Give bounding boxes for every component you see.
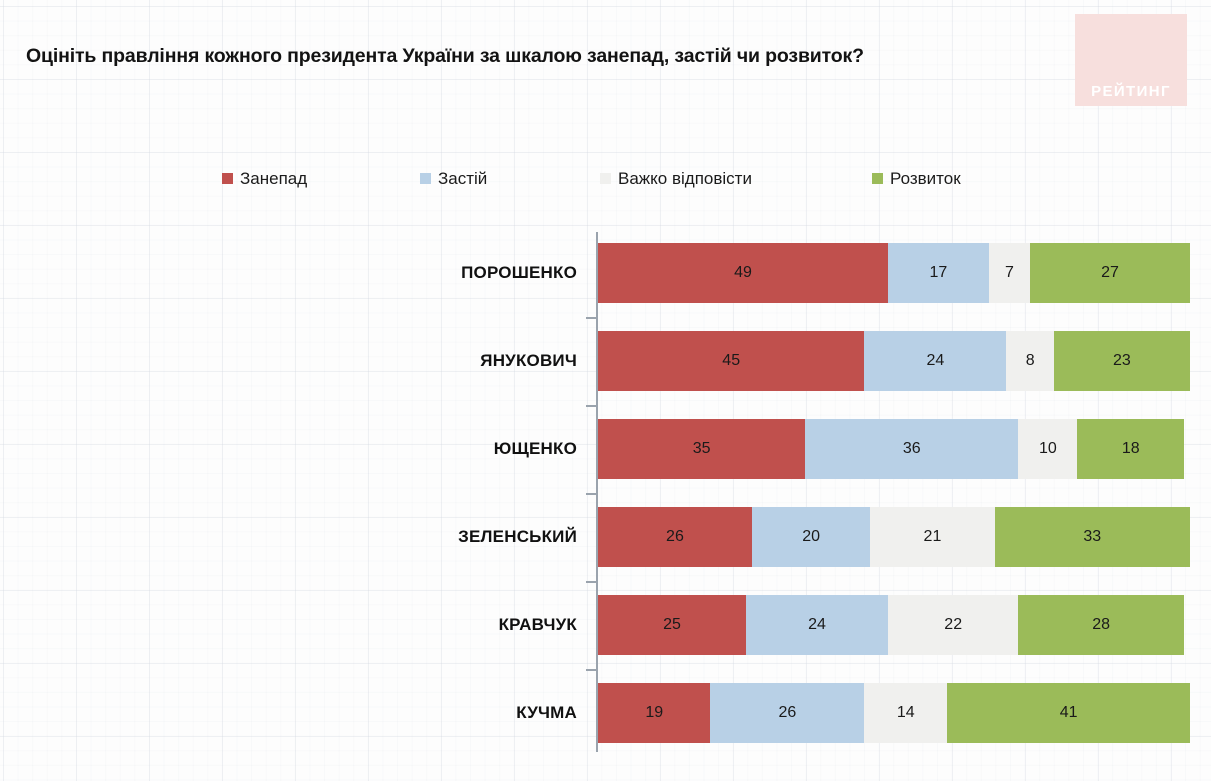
chart-legend: ЗанепадЗастійВажко відповістиРозвиток — [0, 165, 1211, 191]
bar-segment-занепад[interactable]: 25 — [598, 595, 746, 655]
category-label-1: ЯНУКОВИЧ — [260, 331, 577, 391]
legend-item-3[interactable]: Розвиток — [872, 165, 961, 191]
bar-segment-занепад[interactable]: 49 — [598, 243, 888, 303]
legend-item-2[interactable]: Важко відповісти — [600, 165, 752, 191]
bar-segment-розвиток[interactable]: 18 — [1077, 419, 1184, 479]
legend-swatch-icon — [420, 173, 431, 184]
bar-segment-важко-відповісти[interactable]: 22 — [888, 595, 1018, 655]
legend-swatch-icon — [872, 173, 883, 184]
category-axis-line — [596, 232, 598, 752]
watermark-label: РЕЙТИНГ — [1091, 83, 1171, 100]
bar-segment-занепад[interactable]: 35 — [598, 419, 805, 479]
background-overlay — [0, 0, 1211, 781]
rating-watermark: РЕЙТИНГ — [1075, 14, 1187, 106]
chart-plot-area: ПОРОШЕНКО4917727ЯНУКОВИЧ4524823ЮЩЕНКО353… — [0, 0, 1211, 781]
bar-segment-застій[interactable]: 24 — [746, 595, 888, 655]
bar-segment-важко-відповісти[interactable]: 14 — [864, 683, 947, 743]
bar-segment-важко-відповісти[interactable]: 8 — [1006, 331, 1053, 391]
bar-segment-розвиток[interactable]: 33 — [995, 507, 1190, 567]
axis-tick — [586, 317, 597, 319]
bar-segment-застій[interactable]: 17 — [888, 243, 989, 303]
bar-segment-застій[interactable]: 36 — [805, 419, 1018, 479]
graph-paper-background — [0, 0, 1211, 781]
bar-segment-важко-відповісти[interactable]: 21 — [870, 507, 994, 567]
chart-title: Оцініть правління кожного президента Укр… — [26, 45, 864, 68]
stacked-bar: 4524823 — [598, 331, 1190, 391]
bar-segment-занепад[interactable]: 45 — [598, 331, 864, 391]
legend-item-label: Розвиток — [890, 170, 961, 187]
category-label-5: КУЧМА — [260, 683, 577, 743]
legend-item-label: Важко відповісти — [618, 170, 752, 187]
axis-tick — [586, 405, 597, 407]
category-label-3: ЗЕЛЕНСЬКИЙ — [260, 507, 577, 567]
stacked-bar: 4917727 — [598, 243, 1190, 303]
category-label-0: ПОРОШЕНКО — [260, 243, 577, 303]
chart-canvas: РЕЙТИНГ Оцініть правління кожного презид… — [0, 0, 1211, 781]
bar-segment-важко-відповісти[interactable]: 10 — [1018, 419, 1077, 479]
chart-row: ПОРОШЕНКО4917727 — [0, 243, 1211, 303]
bar-segment-важко-відповісти[interactable]: 7 — [989, 243, 1030, 303]
legend-item-0[interactable]: Занепад — [222, 165, 307, 191]
chart-row: КУЧМА19261441 — [0, 683, 1211, 743]
bar-segment-застій[interactable]: 24 — [864, 331, 1006, 391]
legend-swatch-icon — [600, 173, 611, 184]
chart-row: КРАВЧУК25242228 — [0, 595, 1211, 655]
chart-row: ЗЕЛЕНСЬКИЙ26202133 — [0, 507, 1211, 567]
stacked-bar: 35361018 — [598, 419, 1190, 479]
legend-swatch-icon — [222, 173, 233, 184]
bar-segment-застій[interactable]: 20 — [752, 507, 870, 567]
bar-segment-занепад[interactable]: 19 — [598, 683, 710, 743]
axis-tick — [586, 669, 597, 671]
axis-tick — [586, 493, 597, 495]
stacked-bar: 26202133 — [598, 507, 1190, 567]
chart-row: ЯНУКОВИЧ4524823 — [0, 331, 1211, 391]
legend-item-label: Застій — [438, 170, 487, 187]
legend-item-label: Занепад — [240, 170, 307, 187]
bar-segment-розвиток[interactable]: 28 — [1018, 595, 1184, 655]
bar-segment-занепад[interactable]: 26 — [598, 507, 752, 567]
chart-row: ЮЩЕНКО35361018 — [0, 419, 1211, 479]
axis-tick — [586, 581, 597, 583]
category-label-2: ЮЩЕНКО — [260, 419, 577, 479]
legend-item-1[interactable]: Застій — [420, 165, 487, 191]
stacked-bar: 25242228 — [598, 595, 1190, 655]
bar-segment-застій[interactable]: 26 — [710, 683, 864, 743]
stacked-bar: 19261441 — [598, 683, 1190, 743]
category-label-4: КРАВЧУК — [260, 595, 577, 655]
bar-segment-розвиток[interactable]: 27 — [1030, 243, 1190, 303]
bar-segment-розвиток[interactable]: 23 — [1054, 331, 1190, 391]
bar-segment-розвиток[interactable]: 41 — [947, 683, 1190, 743]
